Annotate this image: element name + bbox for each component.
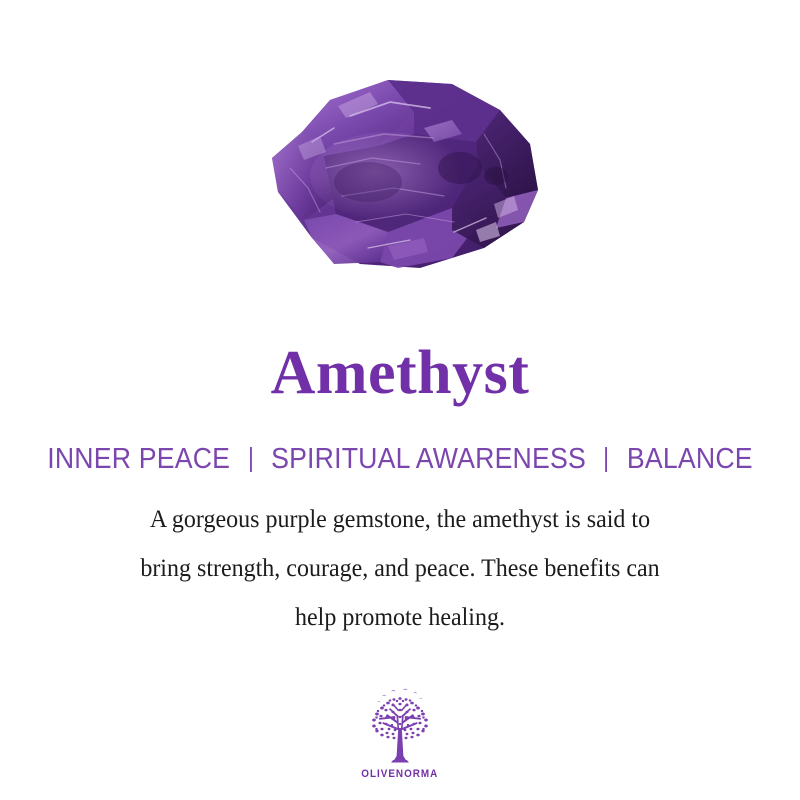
birds [377,689,423,702]
product-title: Amethyst [0,336,800,410]
product-info-card: Amethyst INNER PEACE SPIRITUAL AWARENESS… [0,0,800,800]
tree-of-life-icon [357,686,443,766]
description-line-1: A gorgeous purple gemstone, the amethyst… [64,495,736,544]
product-description: A gorgeous purple gemstone, the amethyst… [64,495,736,642]
hero-image-container [0,0,800,330]
keyword-spiritual-awareness: SPIRITUAL AWARENESS [271,443,586,475]
amethyst-crystal-image [238,72,558,287]
brand-name: OLIVENORMA [361,768,438,780]
description-line-3: help promote healing. [64,593,736,642]
keyword-balance: BALANCE [627,443,753,475]
keyword-separator-1 [250,447,252,472]
product-keywords: INNER PEACE SPIRITUAL AWARENESS BALANCE [32,441,768,477]
description-line-2: bring strength, courage, and peace. Thes… [64,544,736,593]
keyword-inner-peace: INNER PEACE [47,443,230,475]
keyword-separator-2 [606,447,608,472]
brand-logo: OLIVENORMA [0,686,800,780]
